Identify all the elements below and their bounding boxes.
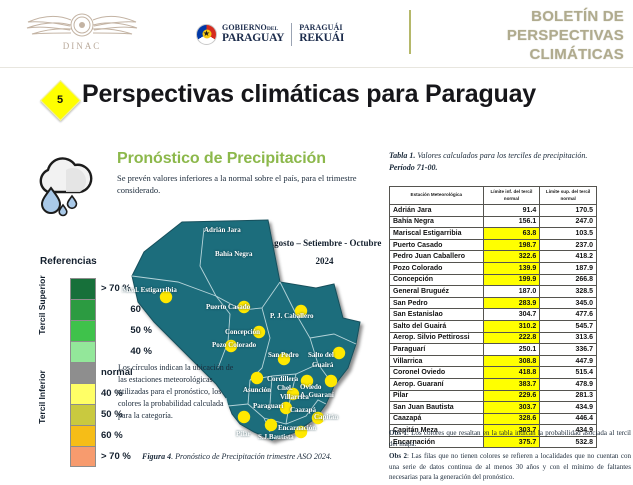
cell-station: Pozo Colorado [390, 262, 484, 274]
table-row: Villarrica308.8447.9 [390, 355, 597, 367]
map-label-19: Encarnación [278, 424, 316, 432]
map-label-7: San Pedro [268, 351, 299, 359]
map-station-marker-7[interactable] [251, 372, 263, 384]
table-row: Paraguarí250.1336.7 [390, 344, 597, 356]
cell-upper-limit: 170.5 [540, 205, 597, 217]
bulletin-divider [409, 10, 411, 54]
cell-lower-limit: 156.1 [483, 216, 540, 228]
cell-upper-limit: 266.8 [540, 274, 597, 286]
legend-title: Referencias [40, 256, 97, 267]
map-station-marker-14[interactable] [265, 419, 277, 431]
table-row: Mariscal Estigarribia63.8103.5 [390, 228, 597, 240]
map-station-marker-6[interactable] [333, 347, 345, 359]
cell-lower-limit: 322.6 [483, 251, 540, 263]
cell-lower-limit: 198.7 [483, 239, 540, 251]
table-row: Adrián Jara91.4170.5 [390, 205, 597, 217]
map-label-4: Concepción [225, 328, 260, 336]
bulletin-line-1: BOLETÍN DE PERSPECTIVAS [507, 8, 624, 44]
obs2-label: Obs 2 [389, 452, 407, 460]
table-row: San Juan Bautista303.7434.9 [390, 402, 597, 414]
map-label-17: Caazapá [290, 406, 316, 414]
gov-gn-line2: REKUÁI [299, 32, 344, 44]
legend-swatch-5 [70, 383, 96, 404]
cell-lower-limit: 250.1 [483, 344, 540, 356]
page-title-row: 5 Perspectivas climáticas para Paraguay [0, 78, 633, 118]
observation-1: Obs 1: Los colores que resaltan en la ta… [389, 428, 631, 449]
table-title: Tabla 1. Valores calculados para los ter… [389, 150, 631, 175]
figure-caption: Figura 4. Pronóstico de Precipitación tr… [142, 452, 412, 461]
cell-upper-limit: 446.4 [540, 413, 597, 425]
cell-station: Aerop. Guaraní [390, 378, 484, 390]
table-row: Concepción199.9266.8 [390, 274, 597, 286]
legend-swatches [70, 278, 96, 467]
dinac-wings-icon [22, 10, 142, 43]
cell-upper-limit: 336.7 [540, 344, 597, 356]
cell-lower-limit: 139.9 [483, 262, 540, 274]
map-station-marker-12[interactable] [238, 411, 250, 423]
cell-upper-limit: 545.7 [540, 320, 597, 332]
legend-group-upper: Tercil Superior [37, 267, 47, 343]
header-rule [0, 67, 633, 68]
cell-lower-limit: 222.8 [483, 332, 540, 344]
cell-station: Mariscal Estigarribia [390, 228, 484, 240]
section-subtitle: Se prevén valores inferiores a la normal… [117, 172, 377, 197]
badge-number: 5 [41, 81, 79, 119]
gov-gn-line1: PARAGUÁI [299, 24, 344, 32]
logo-divider [291, 23, 292, 46]
rain-cloud-icon [28, 150, 100, 220]
cell-station: Concepción [390, 274, 484, 286]
map-label-11: Chel. [277, 384, 293, 392]
legend-swatch-1 [70, 299, 96, 320]
cell-station: Pedro Juan Caballero [390, 251, 484, 263]
map-label-20: Pilar [236, 430, 251, 438]
cell-lower-limit: 63.8 [483, 228, 540, 240]
cell-lower-limit: 328.6 [483, 413, 540, 425]
map-label-8: Salto del [308, 351, 334, 359]
table-row: Pedro Juan Caballero322.6418.2 [390, 251, 597, 263]
gov-line2: PARAGUAY [222, 32, 284, 44]
cell-lower-limit: 283.9 [483, 297, 540, 309]
gov-line1: GOBIERNO [222, 23, 267, 32]
col-station: Estación Meteorológica [390, 187, 484, 205]
cell-station: Coronel Oviedo [390, 367, 484, 379]
table-row: Aerop. Guaraní383.7478.9 [390, 378, 597, 390]
cell-station: San Juan Bautista [390, 402, 484, 414]
legend-swatch-7 [70, 425, 96, 446]
cell-lower-limit: 229.6 [483, 390, 540, 402]
cell-upper-limit: 345.0 [540, 297, 597, 309]
page-title: Perspectivas climáticas para Paraguay [82, 80, 536, 109]
bulletin-line-2: CLIMÁTICAS [530, 46, 625, 63]
table-row: San Pedro283.9345.0 [390, 297, 597, 309]
cell-station: Caazapá [390, 413, 484, 425]
map-label-0: Adrián Jara [204, 226, 241, 234]
cell-upper-limit: 281.3 [540, 390, 597, 402]
cell-lower-limit: 310.2 [483, 320, 540, 332]
map-label-1: Bahía Negra [215, 250, 253, 258]
legend-swatch-3 [70, 341, 96, 362]
cell-upper-limit: 247.0 [540, 216, 597, 228]
bulletin-title: BOLETÍN DE PERSPECTIVAS CLIMÁTICAS [420, 8, 624, 64]
cell-lower-limit: 418.8 [483, 367, 540, 379]
legend-swatch-8 [70, 446, 96, 467]
table-title-bold: Tabla 1. [389, 151, 415, 160]
table-body: Adrián Jara91.4170.5Bahía Negra156.1247.… [390, 205, 597, 448]
map-label-9: Guairá [312, 361, 333, 369]
gov-line1-small: DEL [267, 26, 278, 32]
figure-caption-bold: Figura 4 [142, 452, 171, 461]
cell-lower-limit: 303.7 [483, 402, 540, 414]
table-row: San Estanislao304.7477.6 [390, 309, 597, 321]
cell-upper-limit: 434.9 [540, 402, 597, 414]
cell-upper-limit: 478.9 [540, 378, 597, 390]
cell-station: Bahía Negra [390, 216, 484, 228]
section-heading: Pronóstico de Precipitación [117, 150, 326, 168]
cell-station: San Estanislao [390, 309, 484, 321]
table-row: Puerto Casado198.7237.0 [390, 239, 597, 251]
map-label-14: Asunción [243, 386, 271, 394]
section-number-badge: 5 [41, 81, 79, 119]
observation-2: Obs 2: Las filas que no tienen colores s… [389, 451, 631, 483]
table-row: Coronel Oviedo418.8515.4 [390, 367, 597, 379]
table-row: Salto del Guairá310.2545.7 [390, 320, 597, 332]
legend-group-lower: Tercil Inferior [37, 359, 47, 435]
cell-station: Villarrica [390, 355, 484, 367]
cell-upper-limit: 328.5 [540, 286, 597, 298]
figure-caption-rest: . Pronóstico de Precipitación trimestre … [171, 452, 332, 461]
table-header-row: Estación Meteorológica Límite inf. del t… [390, 187, 597, 205]
table-row: Pilar229.6281.3 [390, 390, 597, 402]
cell-lower-limit: 304.7 [483, 309, 540, 321]
obs2-text: : Las filas que no tienen colores se ref… [389, 452, 631, 481]
cell-lower-limit: 187.0 [483, 286, 540, 298]
legend-swatch-6 [70, 404, 96, 425]
legend-swatch-4 [70, 362, 96, 383]
table-title-rest: Valores calculados para los terciles de … [415, 151, 587, 160]
map-label-16: Paraguarí [253, 402, 283, 410]
col-upper-limit: Límite sup. del tercil normal [540, 187, 597, 205]
table-row: General Bruguéz187.0328.5 [390, 286, 597, 298]
table-row: Pozo Colorado139.9187.9 [390, 262, 597, 274]
map-label-2: Mcal. Estigarribia [122, 286, 177, 294]
cell-upper-limit: 418.2 [540, 251, 597, 263]
table-row: Caazapá328.6446.4 [390, 413, 597, 425]
terciles-table: Estación Meteorológica Límite inf. del t… [389, 186, 597, 448]
government-logo: ★ GOBIERNODEL PARAGUAY PARAGUÁI REKUÁI [196, 18, 386, 50]
cell-upper-limit: 237.0 [540, 239, 597, 251]
cell-upper-limit: 187.9 [540, 262, 597, 274]
map-label-10: Cordillera [267, 375, 298, 383]
cell-station: Aerop. Silvio Pettirossi [390, 332, 484, 344]
obs1-label: Obs 1 [389, 429, 407, 437]
cell-station: Paraguarí [390, 344, 484, 356]
dinac-label: DINAC [22, 41, 142, 51]
page-header: DINAC ★ GOBIERNODEL PARAGUAY PARAGUÁI RE… [0, 0, 633, 68]
cell-lower-limit: 199.9 [483, 274, 540, 286]
table-row: Bahía Negra156.1247.0 [390, 216, 597, 228]
col-lower-limit: Límite inf. del tercil normal [483, 187, 540, 205]
legend-swatch-0 [70, 278, 96, 299]
cell-station: General Bruguéz [390, 286, 484, 298]
cell-lower-limit: 91.4 [483, 205, 540, 217]
cell-station: Pilar [390, 390, 484, 402]
map-label-6: Pozo Colorado [212, 341, 256, 349]
cell-upper-limit: 515.4 [540, 367, 597, 379]
map-label-3: Puerto Casado [206, 303, 250, 311]
map-label-12: Oviedo [300, 383, 321, 391]
map-circle-note: Los círculos indican la ubicación de las… [118, 362, 236, 422]
map-station-marker-9[interactable] [325, 375, 337, 387]
map-label-5: P. J. Caballero [270, 312, 314, 320]
map-label-18: Capitán [314, 413, 338, 421]
cell-upper-limit: 313.6 [540, 332, 597, 344]
map-label-15: Villarrica [280, 393, 309, 401]
legend-swatch-2 [70, 320, 96, 341]
table-title-period: Período 71-00. [389, 163, 437, 172]
paraguay-seal-icon: ★ [196, 24, 217, 45]
table-observations: Obs 1: Los colores que resaltan en la ta… [389, 428, 631, 485]
cell-lower-limit: 308.8 [483, 355, 540, 367]
cell-station: Adrián Jara [390, 205, 484, 217]
obs1-text: : Los colores que resaltan en la tabla i… [389, 429, 631, 448]
cell-upper-limit: 477.6 [540, 309, 597, 321]
cell-station: San Pedro [390, 297, 484, 309]
cell-lower-limit: 383.7 [483, 378, 540, 390]
table-row: Aerop. Silvio Pettirossi222.8313.6 [390, 332, 597, 344]
cell-station: Puerto Casado [390, 239, 484, 251]
dinac-logo: DINAC [22, 10, 142, 56]
map-label-21: S.J.Bautista [258, 433, 294, 441]
cell-station: Salto del Guairá [390, 320, 484, 332]
cell-upper-limit: 103.5 [540, 228, 597, 240]
cell-upper-limit: 447.9 [540, 355, 597, 367]
